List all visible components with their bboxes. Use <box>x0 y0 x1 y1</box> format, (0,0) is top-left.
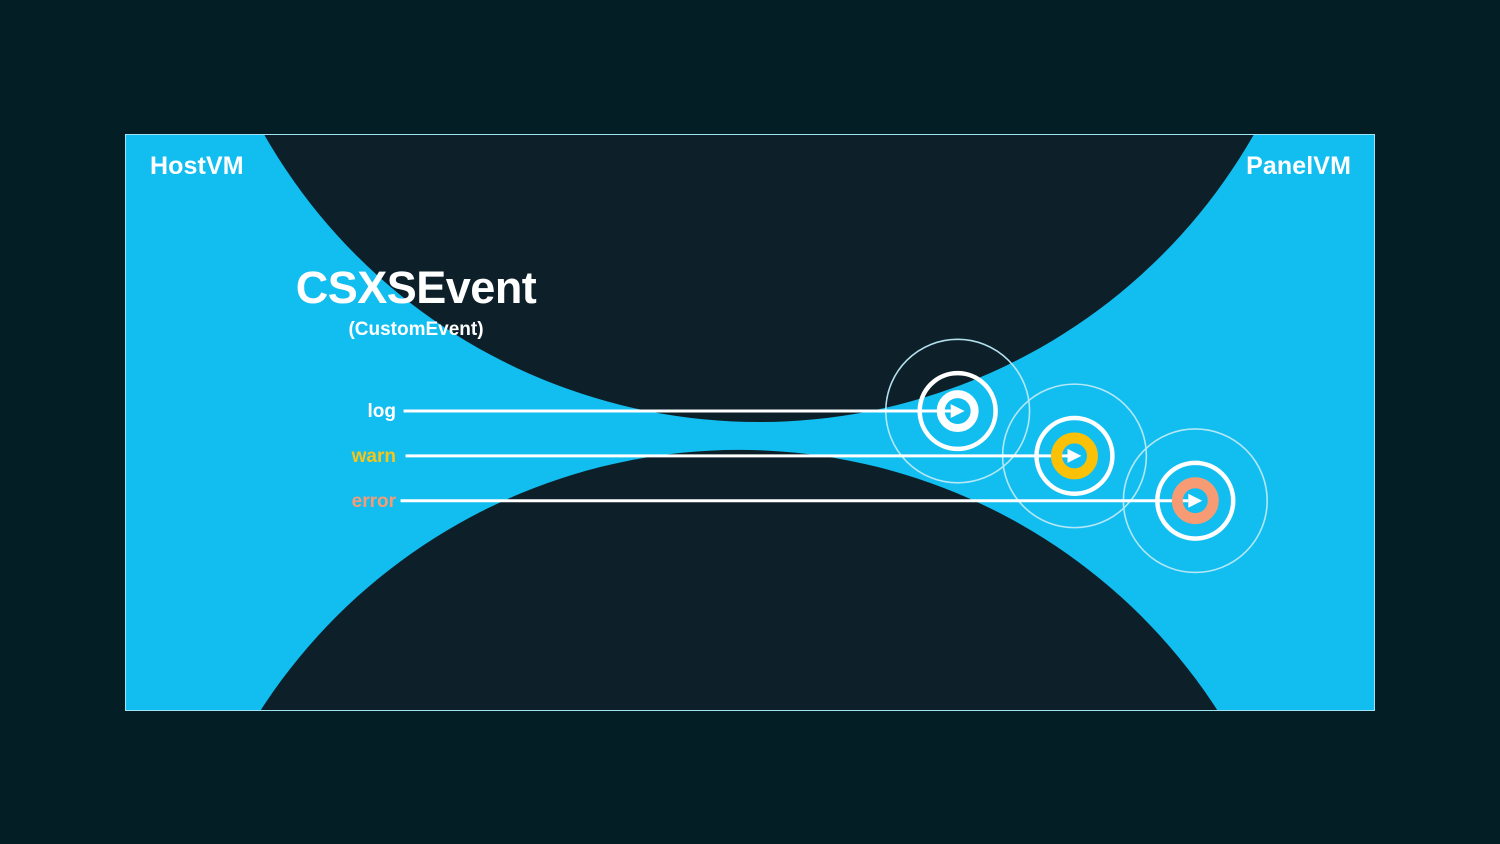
event-name-block: CSXSEvent (CustomEvent) <box>236 265 596 341</box>
event-subtitle: (CustomEvent) <box>236 319 596 341</box>
warn-arrowhead <box>1067 449 1081 463</box>
error-arrowhead <box>1188 494 1202 508</box>
log-arrowhead <box>951 404 965 418</box>
divider-lower-lobe <box>170 450 1308 710</box>
hostvm-label: HostVM <box>150 152 244 181</box>
channel-label-error: error <box>266 491 396 513</box>
panelvm-label: PanelVM <box>1246 152 1351 181</box>
event-title: CSXSEvent <box>236 265 596 310</box>
diagram-canvas: HostVM PanelVM CSXSEvent (CustomEvent) l… <box>0 0 1500 844</box>
vm-bridge-panel: HostVM PanelVM CSXSEvent (CustomEvent) l… <box>125 134 1375 711</box>
channel-label-warn: warn <box>266 446 396 468</box>
channel-label-log: log <box>266 401 396 423</box>
